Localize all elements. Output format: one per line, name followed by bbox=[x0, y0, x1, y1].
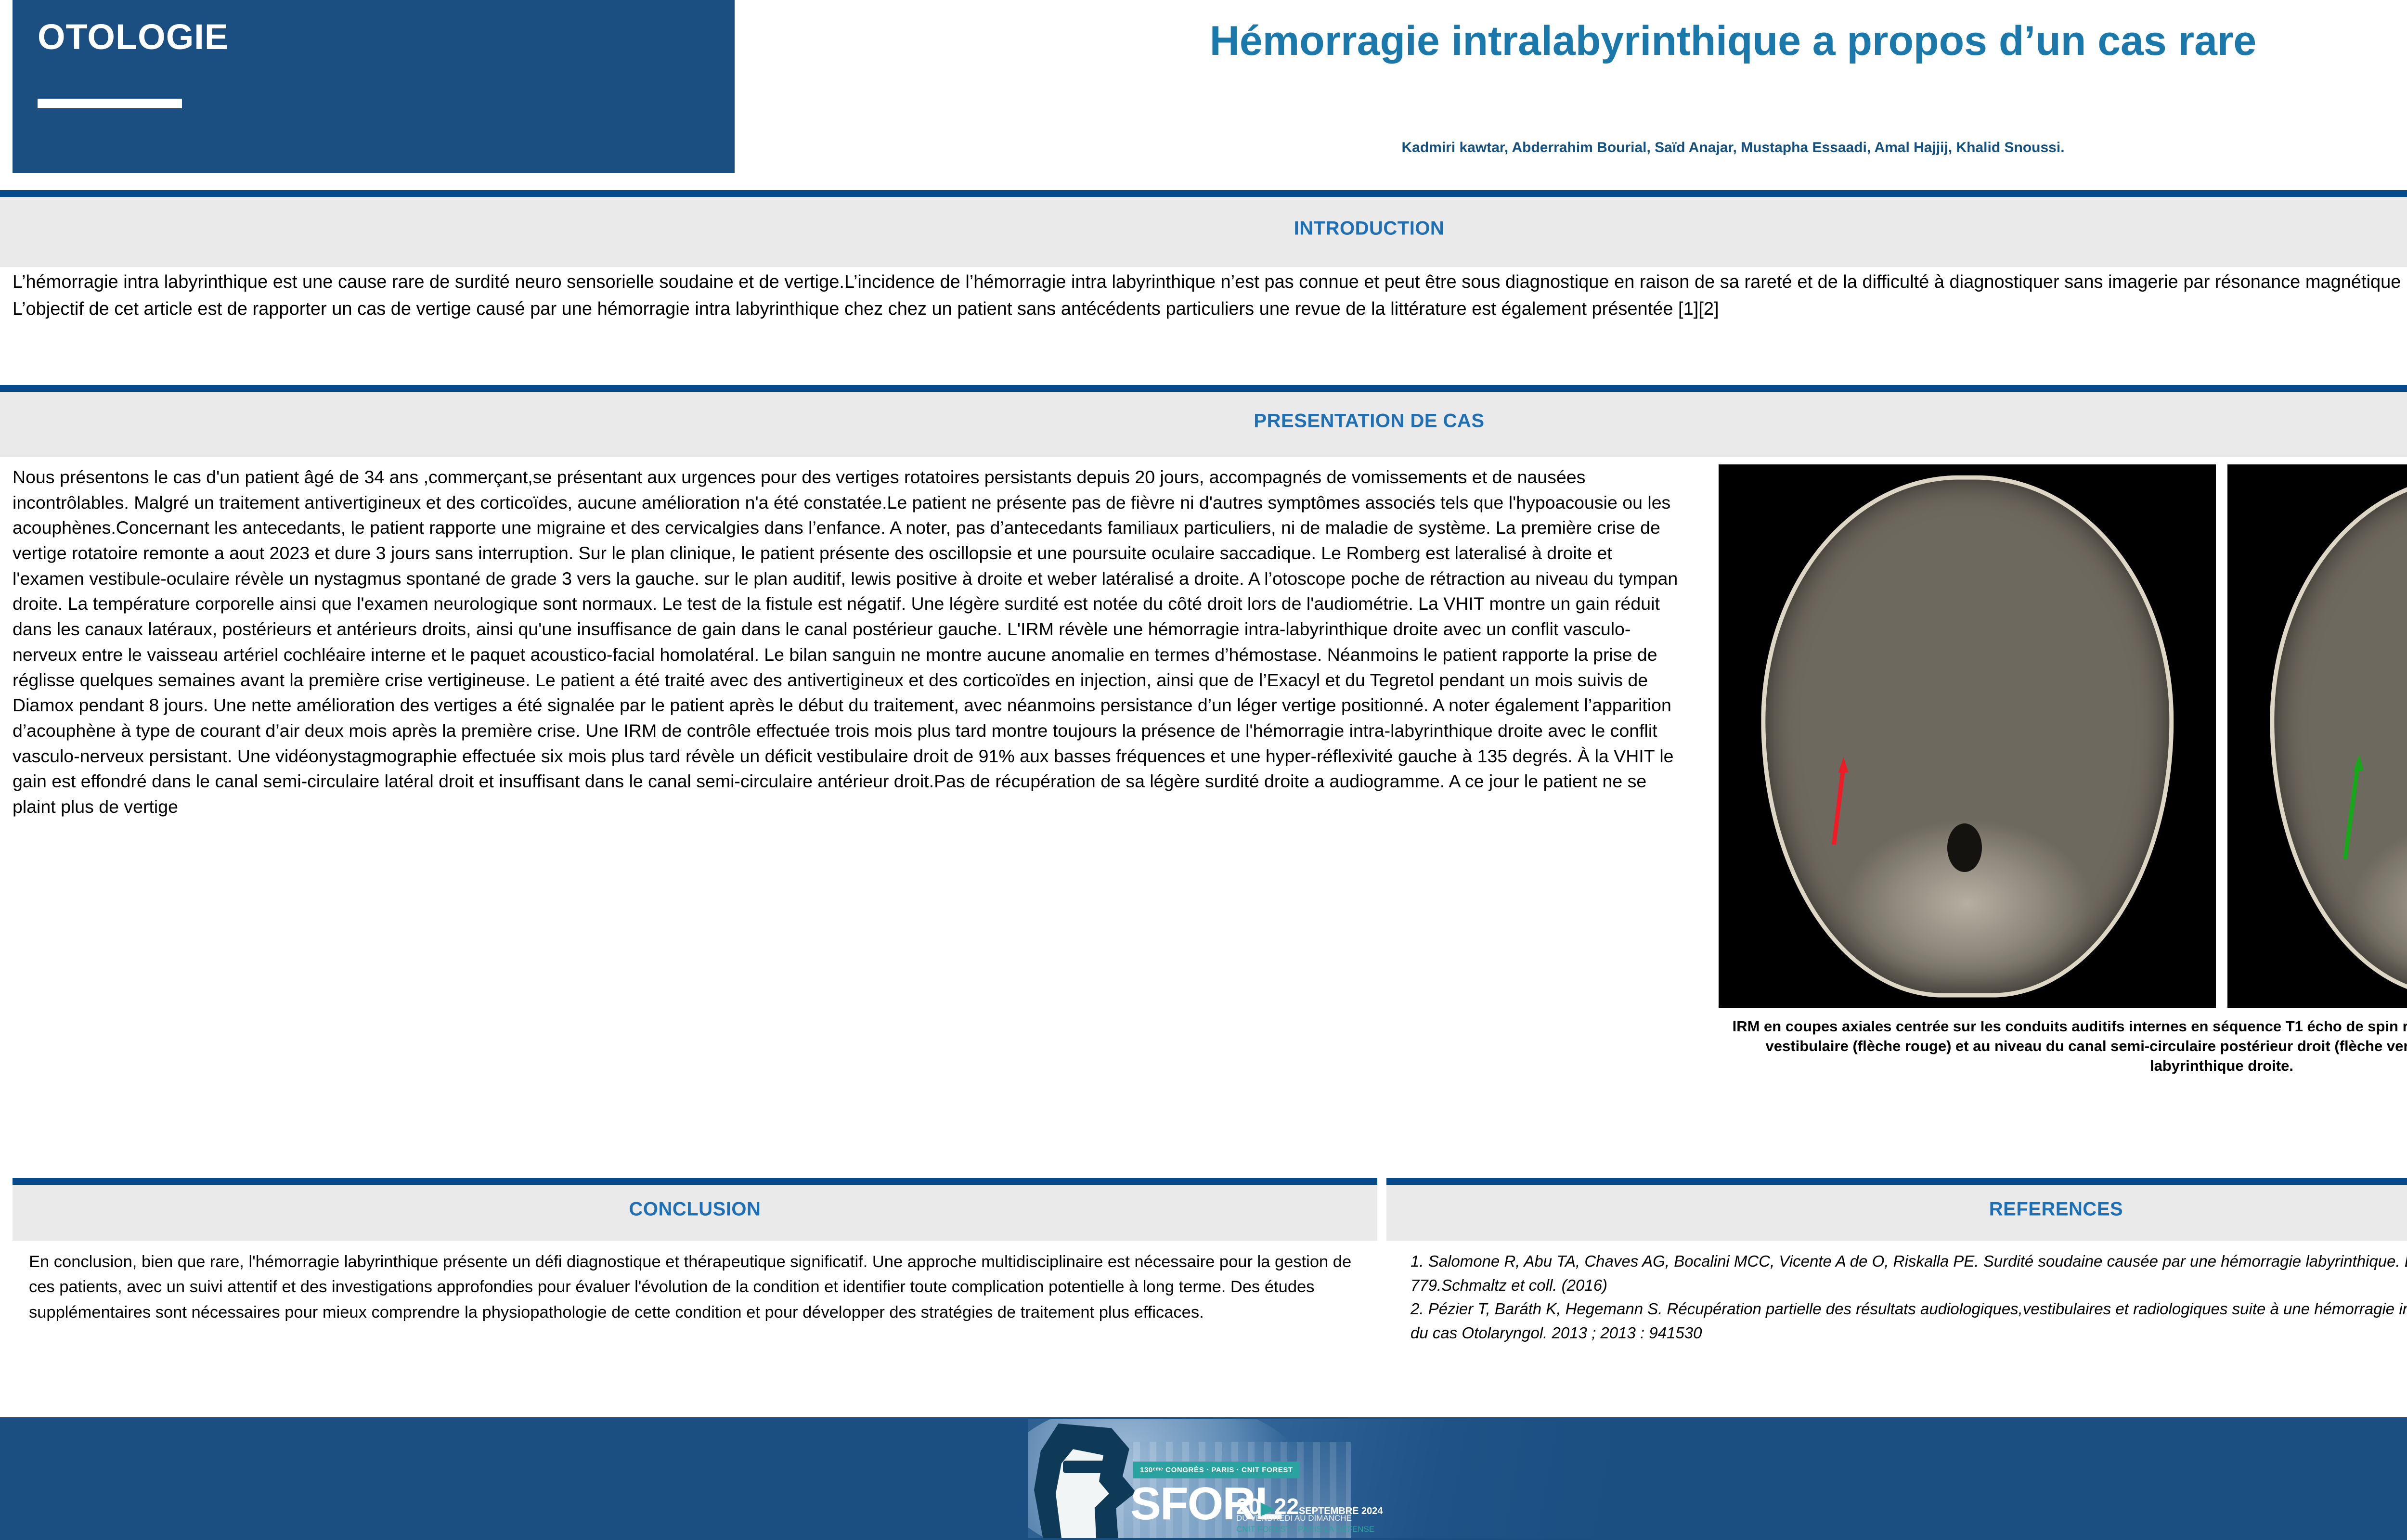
section-title-introduction: INTRODUCTION bbox=[0, 218, 2407, 240]
section-header-introduction: INTRODUCTION bbox=[0, 190, 2407, 267]
authors-line: Kadmiri kawtar, Abderrahim Bourial, Saïd… bbox=[741, 140, 2407, 156]
logo-subline-1: DU VENDREDI AU DIMANCHE bbox=[1236, 1514, 1352, 1523]
poster-footer: 130ᵉᵐᵉ CONGRÈS · PARIS · CNIT FOREST SFO… bbox=[0, 1417, 2407, 1540]
arrow-red-icon bbox=[1834, 757, 1849, 845]
logo-subline-2: CNIT FOREST · PARIS LA DÉFENSE bbox=[1236, 1525, 1374, 1534]
conclusion-body: En conclusion, bien que rare, l'hémorrag… bbox=[29, 1249, 1362, 1325]
reference-item: 1. Salomone R, Abu TA, Chaves AG, Bocali… bbox=[1411, 1249, 2407, 1297]
logo-congress-label: 130ᵉᵐᵉ CONGRÈS · PARIS · CNIT FOREST bbox=[1133, 1462, 1300, 1478]
section-header-conclusion: CONCLUSION bbox=[13, 1178, 1377, 1241]
category-underline bbox=[38, 99, 182, 108]
presentation-body: Nous présentons le cas d'un patient âgé … bbox=[13, 464, 1688, 820]
section-header-presentation: PRESENTATION DE CAS bbox=[0, 385, 2407, 457]
introduction-paragraph: L’objectif de cet article est de rapport… bbox=[13, 296, 2407, 321]
mri-figure-row bbox=[1719, 464, 2407, 1008]
introduction-paragraph: L’hémorragie intra labyrinthique est une… bbox=[13, 269, 2407, 295]
figure-caption: IRM en coupes axiales centrée sur les co… bbox=[1719, 1016, 2407, 1076]
presentation-paragraph: Nous présentons le cas d'un patient âgé … bbox=[13, 464, 1688, 820]
section-rule bbox=[0, 190, 2407, 197]
green-arrow-overlay bbox=[2227, 464, 2407, 1008]
category-block: OTOLOGIE bbox=[13, 0, 735, 173]
section-title-presentation: PRESENTATION DE CAS bbox=[0, 411, 2407, 432]
section-rule bbox=[13, 1178, 1377, 1185]
introduction-body: L’hémorragie intra labyrinthique est une… bbox=[13, 269, 2407, 324]
section-rule bbox=[1386, 1178, 2407, 1185]
references-body: 1. Salomone R, Abu TA, Chaves AG, Bocali… bbox=[1411, 1249, 2407, 1345]
red-arrow-overlay bbox=[1719, 464, 2216, 1008]
sforl-congress-logo: 130ᵉᵐᵉ CONGRÈS · PARIS · CNIT FOREST SFO… bbox=[1028, 1419, 1611, 1538]
section-title-references: REFERENCES bbox=[1386, 1199, 2407, 1220]
logo-glasses-icon bbox=[1063, 1461, 1107, 1473]
category-label: OTOLOGIE bbox=[38, 19, 229, 55]
poster-header: OTOLOGIE Hémorragie intralabyrinthique a… bbox=[0, 0, 2407, 184]
mri-image-right bbox=[2227, 464, 2407, 1008]
arrow-green-icon bbox=[2345, 755, 2364, 859]
section-rule bbox=[0, 385, 2407, 392]
reference-item: 2. Pézier T, Baráth K, Hegemann S. Récup… bbox=[1411, 1297, 2407, 1345]
title-block: Hémorragie intralabyrinthique a propos d… bbox=[741, 0, 2407, 173]
mri-image-left bbox=[1719, 464, 2216, 1008]
poster-canvas: OTOLOGIE Hémorragie intralabyrinthique a… bbox=[0, 0, 2407, 1540]
section-header-references: REFERENCES bbox=[1386, 1178, 2407, 1241]
section-title-conclusion: CONCLUSION bbox=[13, 1199, 1377, 1220]
footer-band: 130ᵉᵐᵉ CONGRÈS · PARIS · CNIT FOREST SFO… bbox=[13, 1419, 2407, 1538]
page-title: Hémorragie intralabyrinthique a propos d… bbox=[741, 19, 2407, 63]
conclusion-paragraph: En conclusion, bien que rare, l'hémorrag… bbox=[29, 1249, 1362, 1325]
